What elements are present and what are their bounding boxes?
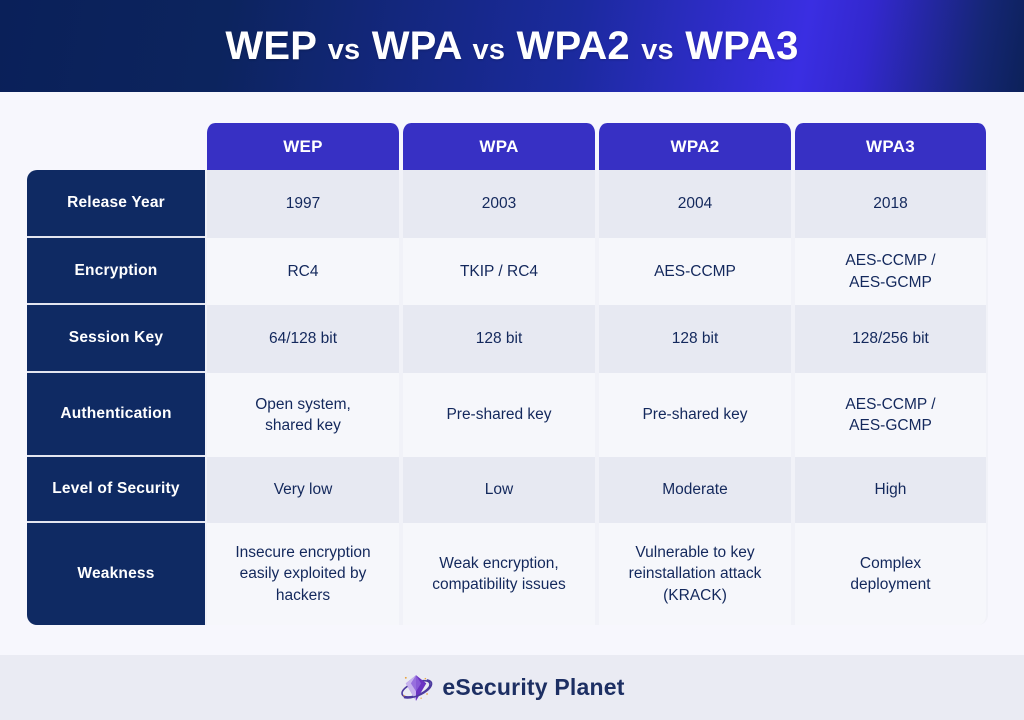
column-header-wep: WEP [205,123,401,170]
cell-release-year-wpa: 2003 [401,170,597,238]
cell-release-year-wpa3: 2018 [793,170,988,238]
column-header-wpa3: WPA3 [793,123,988,170]
row-label-authentication: Authentication [27,373,205,457]
cell-encryption-wep: RC4 [205,238,401,305]
cell-encryption-wpa: TKIP / RC4 [401,238,597,305]
footer-brand-bar: eSecurity Planet [0,655,1024,720]
comparison-table: WEP WPA WPA2 WPA3 Release Year 1997 2003… [27,123,988,625]
comparison-table-container: WEP WPA WPA2 WPA3 Release Year 1997 2003… [27,123,988,625]
title-part-wpa3: WPA3 [685,24,798,68]
table-corner-cell [27,123,205,170]
title-part-wpa2: WPA2 [516,24,629,68]
cell-authentication-wpa3: AES-CCMP /AES-GCMP [793,373,988,457]
cell-release-year-wpa2: 2004 [597,170,793,238]
row-label-release-year: Release Year [27,170,205,238]
page-header-banner: WEP vs WPA vs WPA2 vs WPA3 [0,0,1024,92]
column-header-wpa2: WPA2 [597,123,793,170]
row-label-weakness: Weakness [27,523,205,625]
cell-authentication-wpa2: Pre-shared key [597,373,793,457]
title-separator-1: vs [328,34,361,66]
page-title: WEP vs WPA vs WPA2 vs WPA3 [225,24,798,69]
cell-release-year-wep: 1997 [205,170,401,238]
cell-authentication-wpa: Pre-shared key [401,373,597,457]
cell-encryption-wpa2: AES-CCMP [597,238,793,305]
cell-weakness-wpa: Weak encryption,compatibility issues [401,523,597,625]
title-part-wep: WEP [225,24,316,68]
cell-level-of-security-wpa2: Moderate [597,457,793,523]
row-label-level-of-security: Level of Security [27,457,205,523]
cell-level-of-security-wep: Very low [205,457,401,523]
cell-authentication-wep: Open system,shared key [205,373,401,457]
cell-weakness-wpa2: Vulnerable to keyreinstallation attack(K… [597,523,793,625]
column-header-wpa: WPA [401,123,597,170]
row-label-encryption: Encryption [27,238,205,305]
cell-level-of-security-wpa: Low [401,457,597,523]
title-separator-2: vs [472,34,505,66]
cell-weakness-wep: Insecure encryptioneasily exploited byha… [205,523,401,625]
shield-planet-icon [399,671,433,705]
title-part-wpa: WPA [372,24,461,68]
title-separator-3: vs [641,34,674,66]
cell-encryption-wpa3: AES-CCMP /AES-GCMP [793,238,988,305]
cell-session-key-wpa: 128 bit [401,305,597,373]
cell-session-key-wpa3: 128/256 bit [793,305,988,373]
cell-weakness-wpa3: Complexdeployment [793,523,988,625]
cell-session-key-wpa2: 128 bit [597,305,793,373]
cell-session-key-wep: 64/128 bit [205,305,401,373]
row-label-session-key: Session Key [27,305,205,373]
cell-level-of-security-wpa3: High [793,457,988,523]
brand-name: eSecurity Planet [442,674,624,701]
